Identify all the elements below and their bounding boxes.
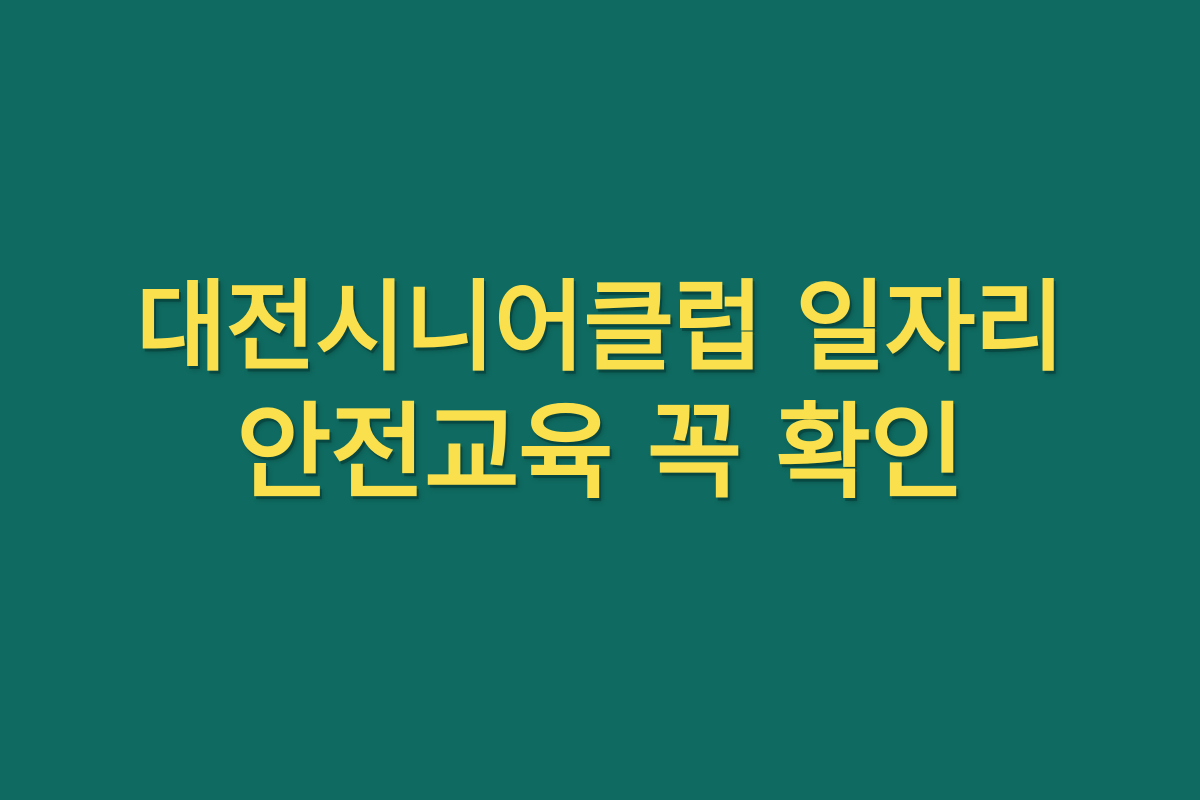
title-card-canvas: 대전시니어클럽 일자리 안전교육 꼭 확인 대전시니어클럽 일자리 안전교육 꼭… bbox=[0, 0, 1200, 800]
headline-line-2: 안전교육 꼭 확인 bbox=[236, 392, 963, 514]
headline-block: 대전시니어클럽 일자리 안전교육 꼭 확인 bbox=[0, 270, 1200, 514]
headline-line-1: 대전시니어클럽 일자리 bbox=[136, 270, 1064, 386]
